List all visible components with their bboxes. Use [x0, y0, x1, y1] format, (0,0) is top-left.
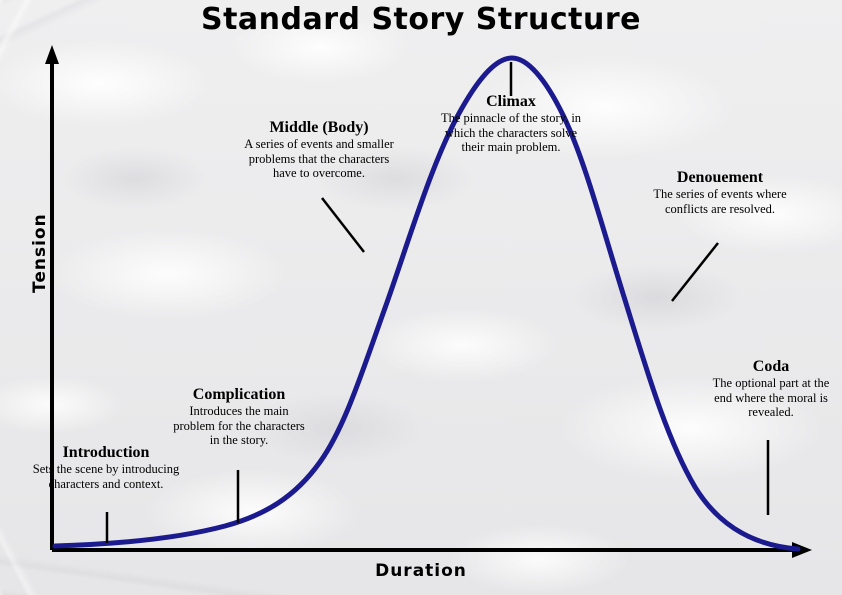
annotation-denouement: Denouement The series of events where co… [645, 168, 795, 216]
x-axis-label: Duration [0, 561, 842, 581]
annotation-denouement-title: Denouement [645, 168, 795, 187]
annotation-coda-title: Coda [704, 357, 838, 376]
x-axis [52, 542, 812, 558]
leader-line-middle [322, 198, 364, 252]
y-axis-label: Tension [30, 217, 50, 293]
annotation-middle-title: Middle (Body) [243, 118, 395, 137]
leader-line-denouement [672, 243, 718, 301]
annotation-denouement-body: The series of events where conflicts are… [645, 187, 795, 216]
story-structure-diagram: Standard Story Structure Tension Duratio… [0, 0, 842, 595]
annotation-coda: Coda The optional part at the end where … [704, 357, 838, 420]
annotation-introduction: Introduction Sets the scene by introduci… [28, 443, 184, 491]
plot-area [0, 0, 842, 595]
annotation-climax-title: Climax [437, 92, 585, 111]
annotation-complication-title: Complication [168, 385, 310, 404]
annotation-complication-body: Introduces the main problem for the char… [168, 404, 310, 448]
annotation-coda-body: The optional part at the end where the m… [704, 376, 838, 420]
annotation-complication: Complication Introduces the main problem… [168, 385, 310, 448]
annotation-introduction-body: Sets the scene by introducing characters… [28, 462, 184, 491]
annotation-climax: Climax The pinnacle of the story, in whi… [437, 92, 585, 155]
page-title: Standard Story Structure [0, 2, 842, 37]
annotation-climax-body: The pinnacle of the story, in which the … [437, 111, 585, 155]
annotation-middle-text: A series of events and smaller problems … [243, 137, 395, 181]
annotation-introduction-title: Introduction [28, 443, 184, 462]
annotation-middle-body: Middle (Body) A series of events and sma… [243, 118, 395, 181]
